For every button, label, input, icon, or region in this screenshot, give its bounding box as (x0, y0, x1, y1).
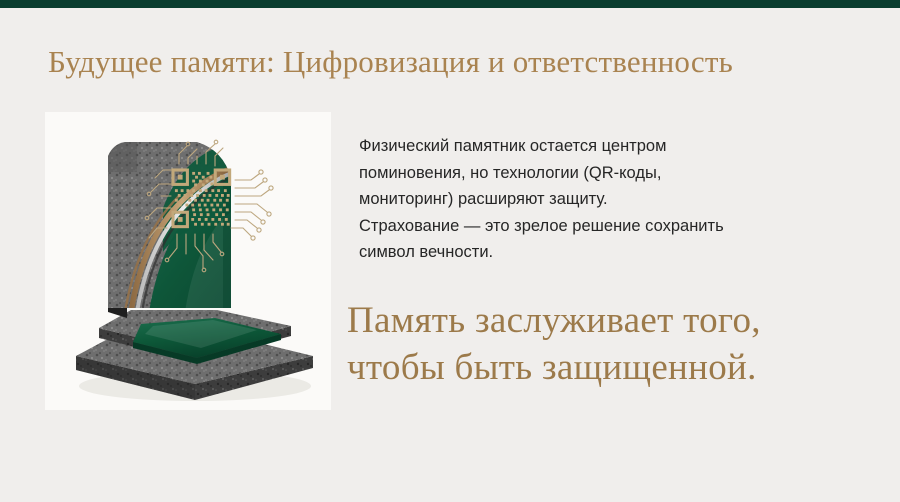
headline-line: Память заслуживает того, (347, 297, 867, 344)
monument-graphic (45, 112, 331, 410)
body-paragraph: Физический памятник остается центром пом… (359, 133, 829, 266)
body-line: мониторинг) расширяют защиту. (359, 186, 829, 213)
accent-top-bar (0, 0, 900, 8)
headline-line: чтобы быть защищенной. (347, 344, 867, 391)
body-line: символ вечности. (359, 239, 829, 266)
slide-root: Будущее памяти: Цифровизация и ответстве… (0, 0, 900, 502)
monument-illustration (45, 112, 331, 410)
closing-headline: Память заслуживает того, чтобы быть защи… (347, 297, 867, 391)
monument-image (45, 112, 331, 410)
memorial-stele (108, 142, 245, 318)
body-line: поминовения, но технологии (QR-коды, (359, 160, 829, 187)
page-title: Будущее памяти: Цифровизация и ответстве… (48, 44, 858, 80)
body-line: Физический памятник остается центром (359, 133, 829, 160)
body-line: Страхование — это зрелое решение сохрани… (359, 213, 829, 240)
